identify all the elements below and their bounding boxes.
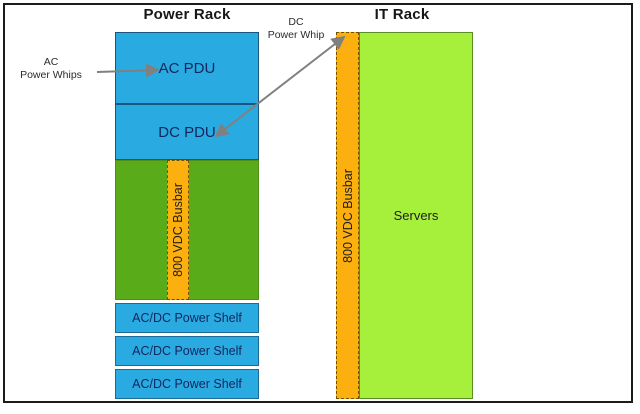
dc-power-whip-line1: DC: [256, 16, 336, 29]
diagram-frame: [3, 3, 633, 403]
it-rack-busbar[interactable]: 800 VDC Busbar: [336, 32, 359, 399]
dc-pdu-label: DC PDU: [158, 124, 216, 141]
ac-power-whips-line1: AC: [8, 56, 94, 69]
servers-label: Servers: [394, 208, 439, 223]
power-rack-title: Power Rack: [115, 6, 259, 23]
power-rack-busbar[interactable]: 800 VDC Busbar: [167, 160, 189, 300]
power-rack-busbar-label: 800 VDC Busbar: [171, 183, 185, 277]
it-rack-busbar-label: 800 VDC Busbar: [341, 169, 355, 263]
ac-power-whips-line2: Power Whips: [8, 69, 94, 82]
ac-power-whips-callout: AC Power Whips: [8, 56, 94, 82]
dc-pdu-block[interactable]: DC PDU: [115, 104, 259, 160]
ac-pdu-block[interactable]: AC PDU: [115, 32, 259, 104]
power-shelf-2[interactable]: AC/DC Power Shelf: [115, 336, 259, 366]
it-rack-title: IT Rack: [330, 6, 474, 23]
dc-power-whip-line2: Power Whip: [256, 29, 336, 42]
dc-power-whip-callout: DC Power Whip: [256, 16, 336, 42]
power-shelf-2-label: AC/DC Power Shelf: [132, 344, 242, 358]
diagram-canvas: Power Rack IT Rack AC PDU DC PDU 800 VDC…: [0, 0, 640, 414]
power-shelf-1-label: AC/DC Power Shelf: [132, 311, 242, 325]
power-shelf-3-label: AC/DC Power Shelf: [132, 377, 242, 391]
power-shelf-3[interactable]: AC/DC Power Shelf: [115, 369, 259, 399]
servers-block[interactable]: Servers: [359, 32, 473, 399]
ac-pdu-label: AC PDU: [159, 60, 216, 77]
power-shelf-1[interactable]: AC/DC Power Shelf: [115, 303, 259, 333]
